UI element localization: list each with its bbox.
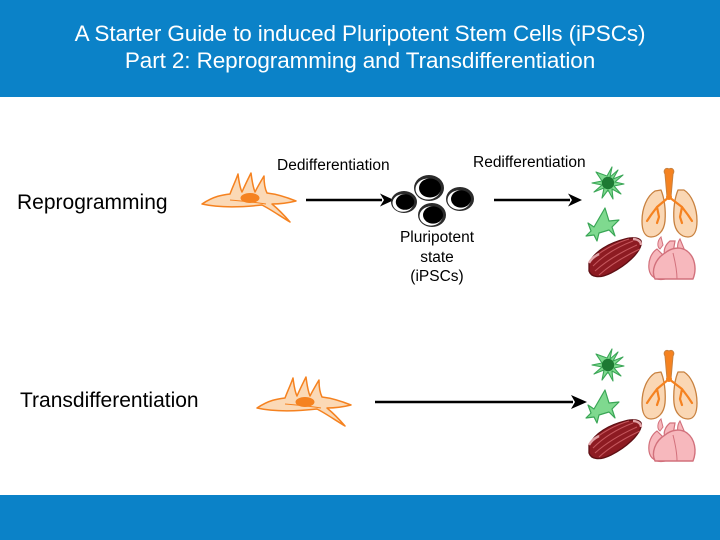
arrow-right-icon — [306, 189, 394, 211]
pluripotent-cell-cluster-icon — [390, 174, 480, 228]
lungs-icon — [642, 168, 697, 237]
title-line-1: A Starter Guide to induced Pluripotent S… — [0, 20, 720, 47]
step-caption-dedifferentiation: Dedifferentiation — [277, 157, 390, 175]
heart-icon — [649, 237, 695, 280]
lungs-icon — [642, 350, 697, 419]
neuron-icon — [586, 167, 624, 241]
step-caption-redifferentiation: Redifferentiation — [473, 154, 586, 172]
pluripotent-caption-line-3: (iPSCs) — [377, 267, 497, 287]
differentiated-organs-icon — [585, 163, 703, 281]
differentiated-organs-icon — [585, 345, 703, 463]
slide-canvas: A Starter Guide to induced Pluripotent S… — [0, 0, 720, 540]
pluripotent-caption-line-1: Pluripotent — [377, 228, 497, 248]
arrow-right-icon — [375, 391, 587, 413]
heart-icon — [649, 419, 695, 462]
footer-bar — [0, 495, 720, 540]
neuron-icon — [586, 349, 624, 423]
pluripotent-caption-line-2: state — [377, 248, 497, 268]
pluripotent-state-caption: Pluripotent state (iPSCs) — [377, 228, 497, 287]
title-bar: A Starter Guide to induced Pluripotent S… — [0, 0, 720, 97]
fibroblast-cell-icon — [200, 168, 304, 230]
slide-title: A Starter Guide to induced Pluripotent S… — [0, 20, 720, 75]
title-line-2: Part 2: Reprogramming and Transdifferent… — [0, 47, 720, 74]
fibroblast-cell-icon — [255, 372, 359, 434]
row-label-transdifferentiation: Transdifferentiation — [20, 389, 199, 413]
skeletal-muscle-icon — [589, 238, 641, 277]
arrow-right-icon — [494, 189, 582, 211]
row-label-reprogramming: Reprogramming — [17, 191, 168, 215]
skeletal-muscle-icon — [589, 420, 641, 459]
